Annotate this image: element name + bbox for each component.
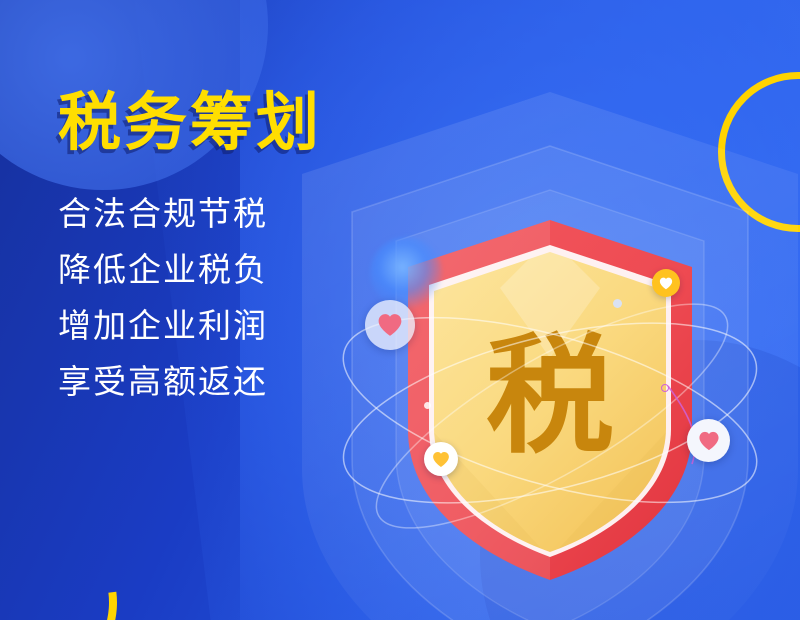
heart-icon (432, 451, 450, 468)
page-title: 税务筹划 (58, 92, 388, 155)
benefit-item: 享受高额返还 (58, 365, 388, 398)
copy-block: 税务筹划 合法合规节税 降低企业税负 增加企业利润 享受高额返还 (58, 92, 388, 398)
sparkle-dot (424, 402, 431, 409)
heart-badge-right (687, 419, 730, 462)
sparkle-dot (613, 299, 622, 308)
benefit-item: 增加企业利润 (58, 309, 388, 342)
tax-planning-banner: 税 税务筹划 (0, 0, 800, 620)
benefit-list: 合法合规节税 降低企业税负 增加企业利润 享受高额返还 (58, 197, 388, 398)
sparkle-ring-dot (661, 384, 669, 392)
benefit-item: 降低企业税负 (58, 253, 388, 286)
heart-badge-top-right (652, 269, 680, 297)
heart-icon (659, 277, 673, 290)
heart-badge-bottom (424, 442, 458, 476)
benefit-item: 合法合规节税 (58, 197, 388, 230)
heart-icon (698, 431, 720, 451)
